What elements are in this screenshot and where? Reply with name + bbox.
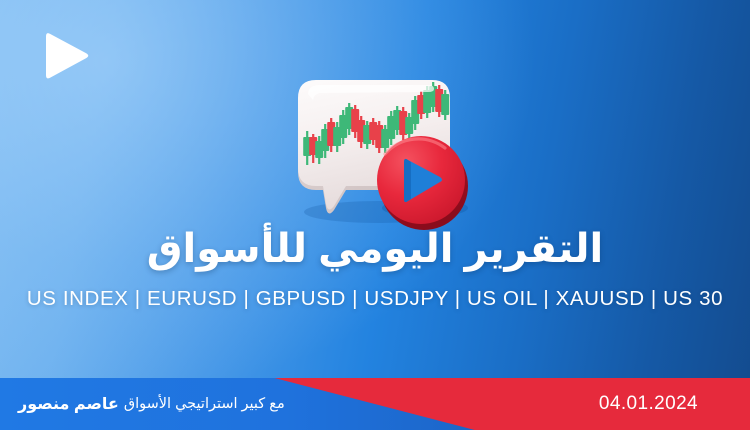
presenter-credit: مع كبير استراتيجي الأسواق عاصم منصور — [18, 378, 285, 430]
daily-market-report-banner: التقرير اليومي للأسواق US INDEX | EURUSD… — [0, 0, 750, 430]
presenter-credit-lead: مع كبير استراتيجي الأسواق — [124, 396, 285, 412]
speech-bubble-illustration — [282, 72, 482, 230]
play-badge-triangle-shade — [404, 159, 411, 202]
instrument-list: US INDEX | EURUSD | GBPUSD | USDJPY | US… — [0, 287, 750, 311]
presenter-name: عاصم منصور — [18, 394, 119, 414]
headline-block: التقرير اليومي للأسواق US INDEX | EURUSD… — [0, 228, 750, 311]
page-title: التقرير اليومي للأسواق — [0, 228, 750, 271]
footer-bar: مع كبير استراتيجي الأسواق عاصم منصور 04.… — [0, 378, 750, 430]
play-mark[interactable] — [41, 30, 91, 82]
play-triangle-icon — [41, 30, 91, 82]
broadcast-date: 04.01.2024 — [599, 378, 698, 430]
